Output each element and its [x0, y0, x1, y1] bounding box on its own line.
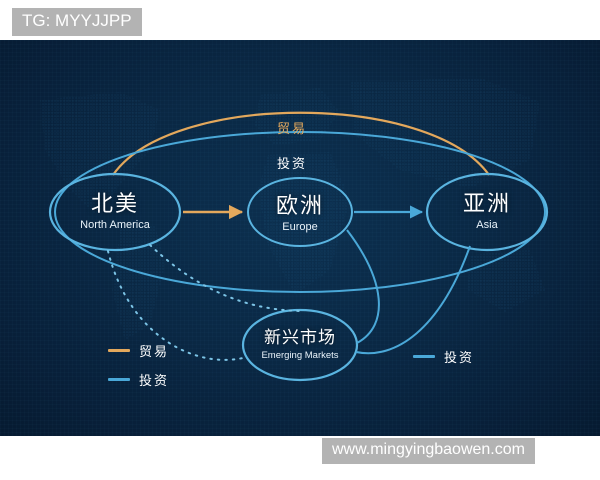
legend-swatch-invest-icon — [108, 378, 130, 381]
legend-swatch-trade-icon — [108, 349, 130, 352]
legend-item-trade: 贸易 — [108, 341, 169, 360]
watermark-telegram: TG: MYYJJPP — [12, 8, 142, 36]
diagram-panel: 北美 North America 欧洲 Europe 亚洲 Asia 新兴市场 … — [0, 40, 600, 436]
legend-item-invest-right: 投资 — [413, 347, 474, 366]
legend-label-trade: 贸易 — [139, 341, 169, 360]
node-north-america[interactable] — [50, 174, 180, 250]
edge-invest-curve-europe-emerging — [347, 230, 379, 343]
edge-invest-dotted-na-europe — [150, 245, 300, 311]
legend-left: 贸易 投资 — [108, 341, 169, 399]
legend-label-invest-right: 投资 — [444, 347, 474, 366]
legend-label-invest: 投资 — [139, 370, 169, 389]
legend-right: 投资 — [413, 347, 474, 376]
diagram-svg — [0, 40, 600, 436]
legend-swatch-invest-right-icon — [413, 355, 435, 358]
node-asia[interactable] — [427, 174, 547, 250]
legend-item-invest: 投资 — [108, 370, 169, 389]
node-europe[interactable] — [248, 178, 352, 246]
watermark-url: www.mingyingbaowen.com — [322, 438, 535, 464]
page-background: 北美 North America 欧洲 Europe 亚洲 Asia 新兴市场 … — [0, 0, 600, 480]
edge-invest-curve-asia-emerging — [356, 246, 470, 353]
node-emerging-markets[interactable] — [243, 310, 357, 380]
